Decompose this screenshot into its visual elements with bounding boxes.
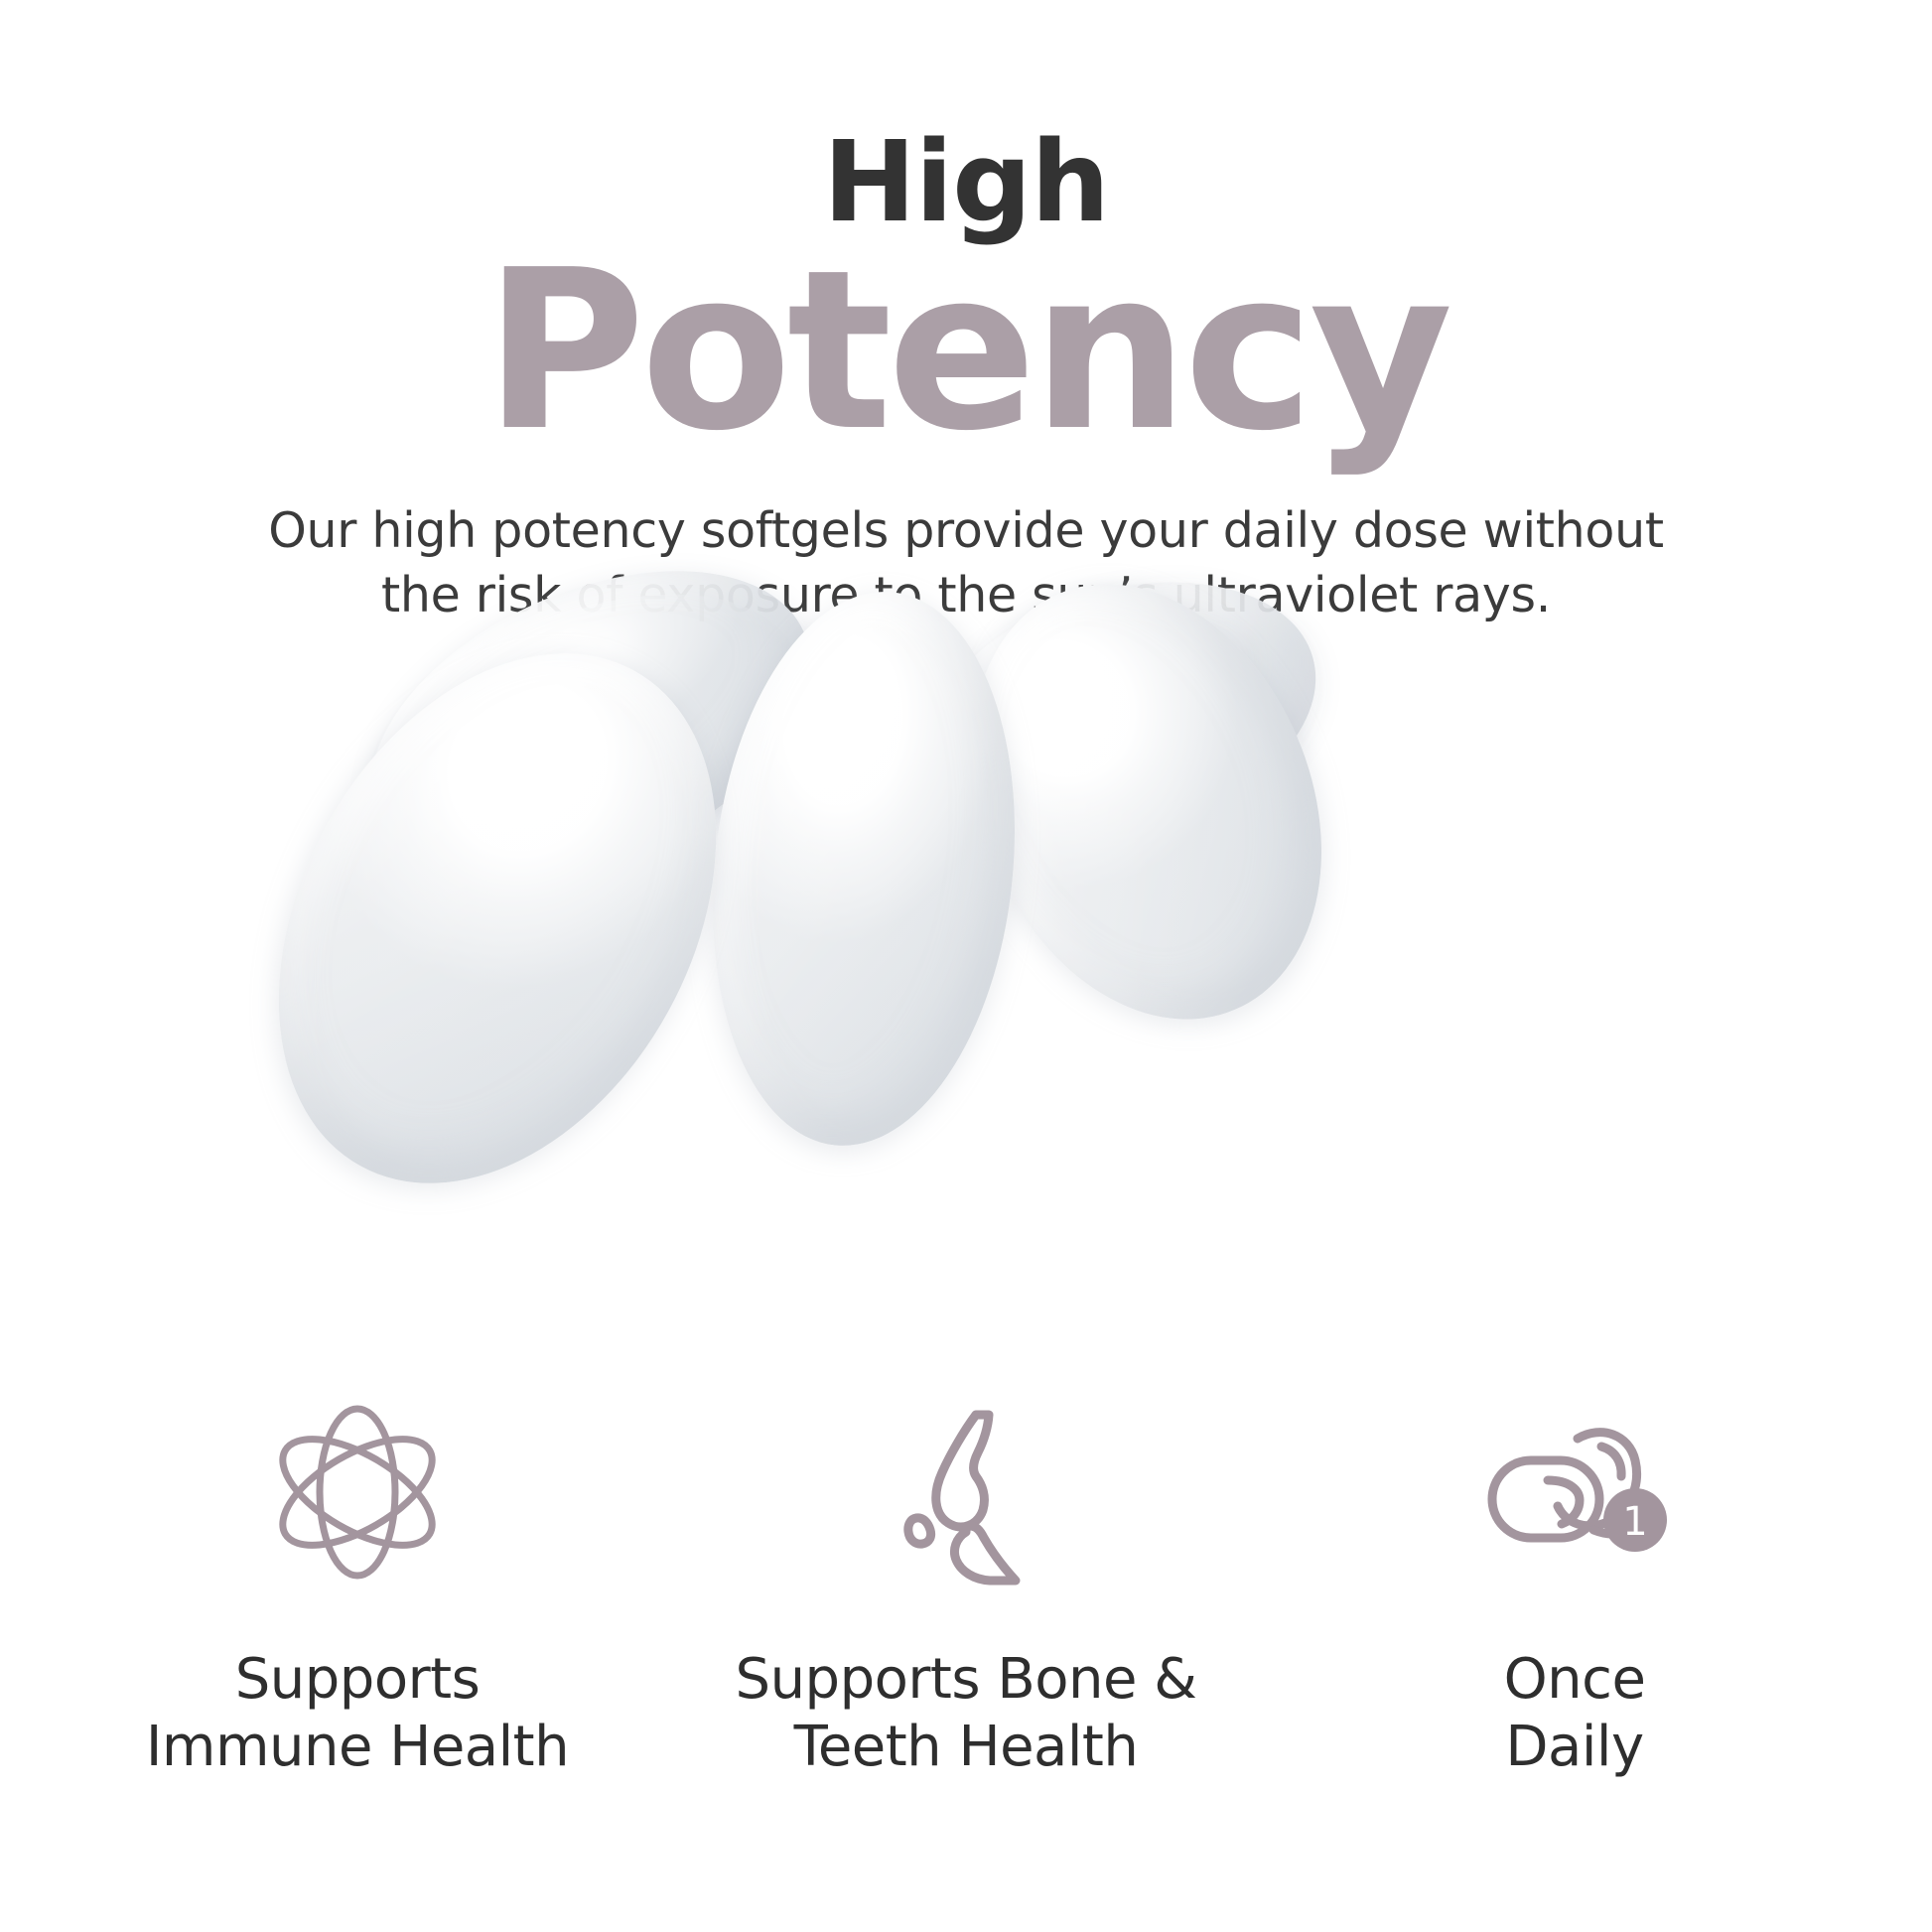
product-feature-panel: High Potency Our high potency softgels p… bbox=[0, 0, 1932, 1932]
feature-bone-teeth-health: Supports Bone & Teeth Health bbox=[668, 1395, 1264, 1782]
feature-label-once-daily: Once Daily bbox=[1504, 1646, 1646, 1782]
header: High Potency Our high potency softgels p… bbox=[0, 0, 1932, 628]
feature-immune-health: Supports Immune Health bbox=[60, 1395, 655, 1782]
page-title-line-1: High bbox=[0, 0, 1932, 238]
two-softgels-icon: 1 bbox=[1470, 1395, 1679, 1588]
atom-icon bbox=[258, 1395, 457, 1588]
feature-label-immune-health: Supports Immune Health bbox=[146, 1646, 569, 1782]
feature-row: Supports Immune Health Supports Bone & T… bbox=[0, 1395, 1932, 1782]
product-image-softgels bbox=[0, 685, 1932, 1370]
knee-joint-bone-icon bbox=[867, 1395, 1065, 1588]
feature-label-bone-teeth-health: Supports Bone & Teeth Health bbox=[736, 1646, 1197, 1782]
feature-once-daily: 1 Once Daily bbox=[1277, 1395, 1872, 1782]
badge-count: 1 bbox=[1622, 1499, 1647, 1545]
page-title-line-2: Potency bbox=[0, 238, 1932, 453]
